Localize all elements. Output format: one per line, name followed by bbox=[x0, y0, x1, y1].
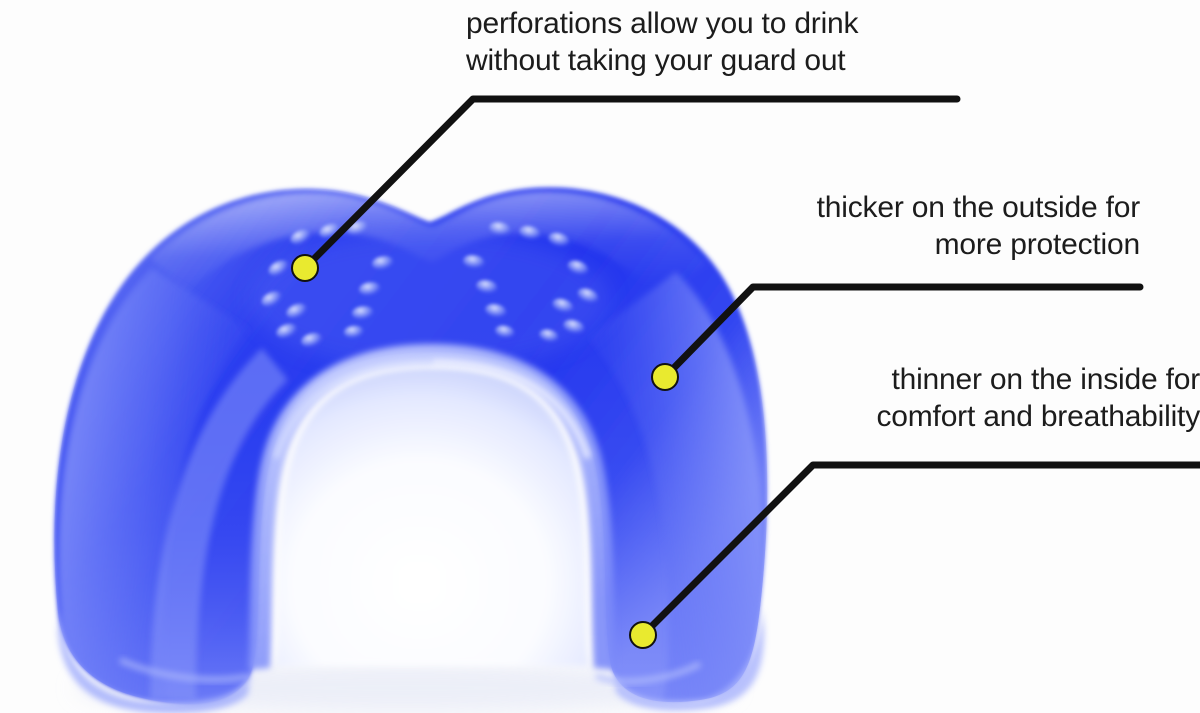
callout-label-thicker: thicker on the outside for more protecti… bbox=[690, 190, 1140, 263]
callout-label-thinner: thinner on the inside for comfort and br… bbox=[740, 362, 1200, 435]
annotated-product-figure: perforations allow you to drink without … bbox=[0, 0, 1200, 713]
callout-label-perforations: perforations allow you to drink without … bbox=[466, 6, 966, 79]
mouthguard-photo bbox=[0, 0, 1200, 713]
mouth-cavity bbox=[276, 368, 588, 666]
mouthguard-body bbox=[0, 188, 1200, 713]
